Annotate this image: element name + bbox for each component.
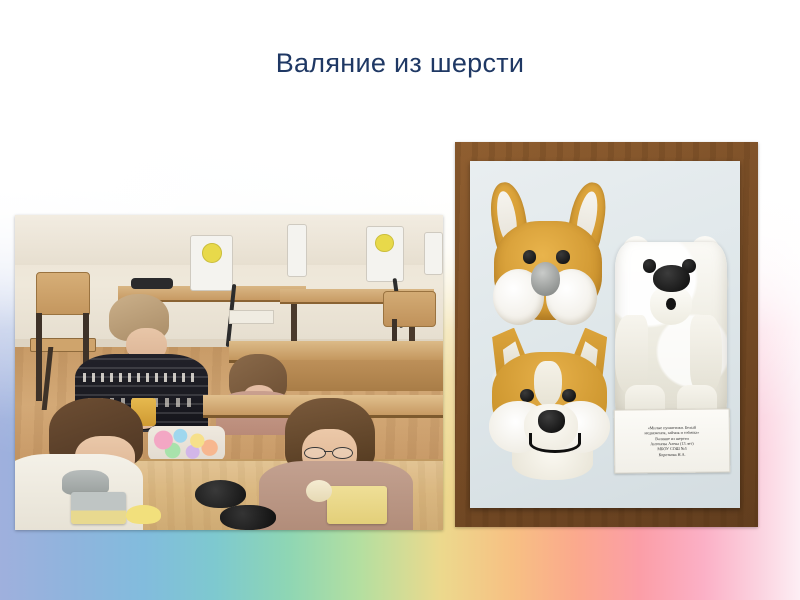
dog-nose — [538, 410, 565, 433]
sewing-machine-dial-icon — [375, 234, 393, 252]
sewing-machine-icon — [287, 224, 307, 276]
chair-leg — [36, 313, 41, 401]
sweater-pattern — [83, 373, 199, 382]
wool-roving-pile — [148, 426, 225, 461]
classroom-chair — [36, 272, 89, 315]
black-case-on-desk — [131, 278, 174, 289]
caption-line-6: Короткова Н.А. — [659, 452, 686, 458]
felting-sponge-left — [71, 492, 127, 524]
bear-arm-right — [690, 315, 722, 393]
bear-eye-left — [643, 259, 657, 273]
dog-mouth — [529, 433, 581, 453]
yellow-wool-piece — [126, 505, 160, 524]
felted-bunny — [486, 182, 621, 328]
glasses-bridge — [324, 451, 332, 452]
sewing-machine-dial-icon — [202, 243, 222, 263]
bear-nose — [653, 265, 690, 292]
supply-box — [229, 310, 274, 325]
black-wool-piece — [220, 505, 276, 530]
felting-sponge-right — [327, 486, 387, 524]
glasses-lens-left — [304, 447, 326, 460]
felted-workpiece — [306, 480, 332, 502]
presentation-slide: Валяние из шерсти — [0, 0, 800, 600]
bunny-nose — [531, 262, 561, 295]
bunny-eye-left — [523, 250, 536, 263]
classroom-felting-photo[interactable] — [15, 215, 443, 530]
felted-crafts-photo[interactable]: «Милые пушистики. Белый медвежонок, зайч… — [455, 142, 758, 527]
slide-title: Валяние из шерсти — [0, 46, 800, 80]
felted-polar-bear — [610, 234, 734, 428]
sewing-machine-icon — [424, 232, 443, 275]
bear-mouth — [666, 298, 676, 310]
bunny-eye-right — [556, 250, 569, 263]
black-wool-piece — [195, 480, 246, 508]
craft-caption-label: «Милые пушистики. Белый медвежонок, зайч… — [614, 408, 731, 473]
display-board: «Милые пушистики. Белый медвежонок, зайч… — [470, 161, 740, 508]
dog-forehead-blaze — [534, 361, 562, 407]
felted-dog — [481, 328, 621, 480]
